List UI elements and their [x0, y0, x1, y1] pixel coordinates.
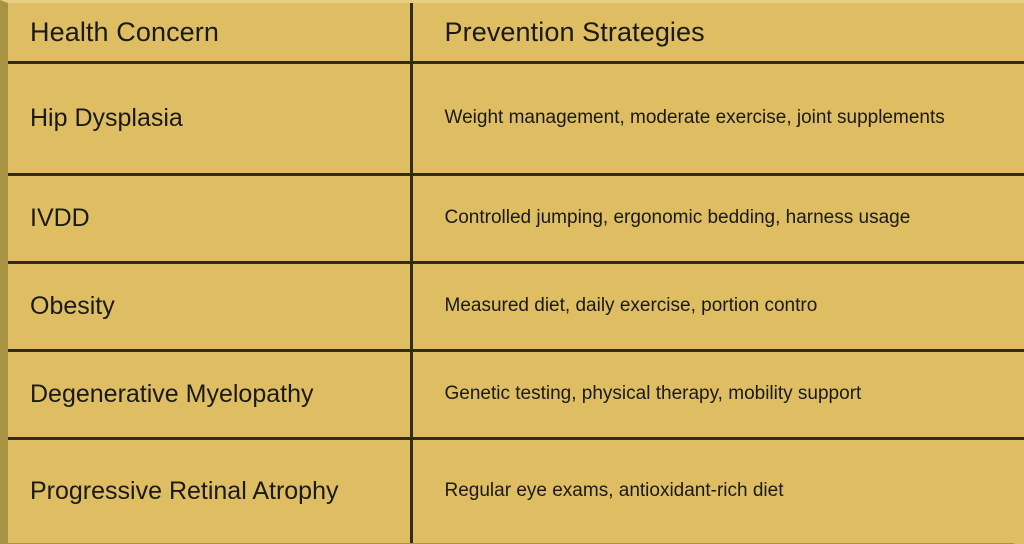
table-row: IVDD Controlled jumping, ergonomic beddi… — [8, 175, 1024, 263]
cell-prevention-strategy-label: Measured diet, daily exercise, portion c… — [413, 295, 1024, 318]
cell-prevention-strategy-label: Regular eye exams, antioxidant-rich diet — [413, 480, 1024, 503]
cell-prevention-strategy: Regular eye exams, antioxidant-rich diet — [411, 439, 1024, 543]
cell-prevention-strategy: Controlled jumping, ergonomic bedding, h… — [411, 175, 1024, 263]
health-concerns-table: Health Concern Prevention Strategies Hip… — [8, 3, 1024, 543]
cell-health-concern: Degenerative Myelopathy — [8, 351, 411, 439]
table-header: Health Concern Prevention Strategies — [8, 3, 1024, 63]
column-header-prevention-strategies-label: Prevention Strategies — [413, 17, 1024, 48]
cell-health-concern: Obesity — [8, 263, 411, 351]
column-header-health-concern: Health Concern — [8, 3, 411, 63]
column-header-health-concern-label: Health Concern — [8, 17, 410, 48]
table-row: Degenerative Myelopathy Genetic testing,… — [8, 351, 1024, 439]
cell-health-concern-label: Progressive Retinal Atrophy — [8, 477, 410, 506]
cell-prevention-strategy-label: Genetic testing, physical therapy, mobil… — [413, 383, 1024, 406]
table-frame: Health Concern Prevention Strategies Hip… — [0, 0, 1024, 544]
table-header-row: Health Concern Prevention Strategies — [8, 3, 1024, 63]
table-row: Obesity Measured diet, daily exercise, p… — [8, 263, 1024, 351]
cell-health-concern-label: IVDD — [8, 204, 410, 233]
table-row: Progressive Retinal Atrophy Regular eye … — [8, 439, 1024, 543]
table-body: Hip Dysplasia Weight management, moderat… — [8, 63, 1024, 543]
table-row: Hip Dysplasia Weight management, moderat… — [8, 63, 1024, 175]
column-header-prevention-strategies: Prevention Strategies — [411, 3, 1024, 63]
cell-prevention-strategy: Weight management, moderate exercise, jo… — [411, 63, 1024, 175]
cell-prevention-strategy: Measured diet, daily exercise, portion c… — [411, 263, 1024, 351]
cell-prevention-strategy: Genetic testing, physical therapy, mobil… — [411, 351, 1024, 439]
cell-health-concern-label: Hip Dysplasia — [8, 104, 410, 133]
cell-health-concern-label: Obesity — [8, 292, 410, 321]
cell-prevention-strategy-label: Weight management, moderate exercise, jo… — [413, 107, 1024, 130]
cell-health-concern: Hip Dysplasia — [8, 63, 411, 175]
cell-health-concern-label: Degenerative Myelopathy — [8, 380, 410, 409]
cell-health-concern: Progressive Retinal Atrophy — [8, 439, 411, 543]
cell-prevention-strategy-label: Controlled jumping, ergonomic bedding, h… — [413, 207, 1024, 230]
cell-health-concern: IVDD — [8, 175, 411, 263]
